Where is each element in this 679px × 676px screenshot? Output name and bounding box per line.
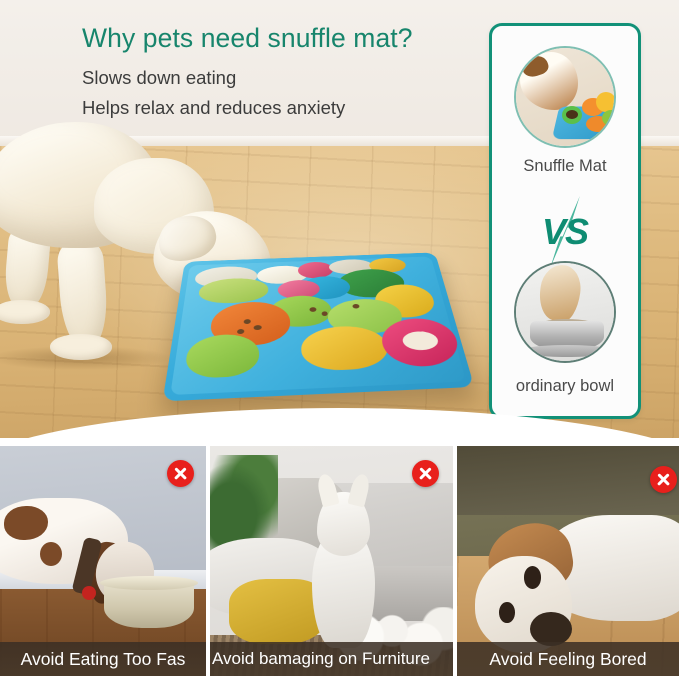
x-mark-icon (650, 466, 677, 493)
snuffle-mat-thumbnail (514, 46, 616, 148)
dog-paw (0, 300, 50, 324)
problem-panel: Avoid Eating Too Fas (0, 446, 206, 676)
panel-caption: Avoid Eating Too Fas (0, 642, 206, 676)
thumb-petal (602, 110, 616, 126)
dog-paw (50, 334, 112, 360)
x-mark-icon (167, 460, 194, 487)
comparison-bottom-label: ordinary bowl (492, 377, 638, 396)
panel-caption: Avoid Feeling Bored (457, 642, 679, 676)
problem-panel: Avoid Feeling Bored (457, 446, 679, 676)
dog-eye (499, 602, 515, 623)
versus-label: VS (492, 204, 638, 260)
snuffle-mat (162, 252, 474, 401)
dog-spot (40, 542, 62, 566)
x-mark-icon (412, 460, 439, 487)
thumb-petal (596, 92, 616, 112)
headline-block: Why pets need snuffle mat? Slows down ea… (82, 22, 482, 122)
benefit-line-2: Helps relax and reduces anxiety (82, 94, 482, 122)
versus-badge: VS (492, 204, 638, 260)
problem-panel: Avoid bamaging on Furniture (210, 446, 453, 676)
comparison-top-label: Snuffle Mat (492, 157, 638, 176)
problem-panels-row: Avoid Eating Too Fas Avoid bamaging on F… (0, 438, 679, 676)
comparison-panel: Snuffle Mat VS ordinary bowl (489, 23, 641, 419)
benefit-line-1: Slows down eating (82, 64, 482, 92)
ordinary-bowl-thumbnail (514, 261, 616, 363)
thumb-bowl-base (520, 345, 614, 357)
collar-tag (82, 586, 96, 600)
food-bowl-rim (100, 576, 198, 590)
snuffle-mat-surface (170, 256, 466, 395)
dog-eye (524, 566, 542, 589)
hero-section: Why pets need snuffle mat? Slows down ea… (0, 0, 679, 440)
thumb-food (566, 110, 578, 119)
page-title: Why pets need snuffle mat? (82, 22, 482, 55)
blurred-background-top (457, 446, 679, 515)
panel-caption: Avoid bamaging on Furniture (210, 642, 453, 676)
